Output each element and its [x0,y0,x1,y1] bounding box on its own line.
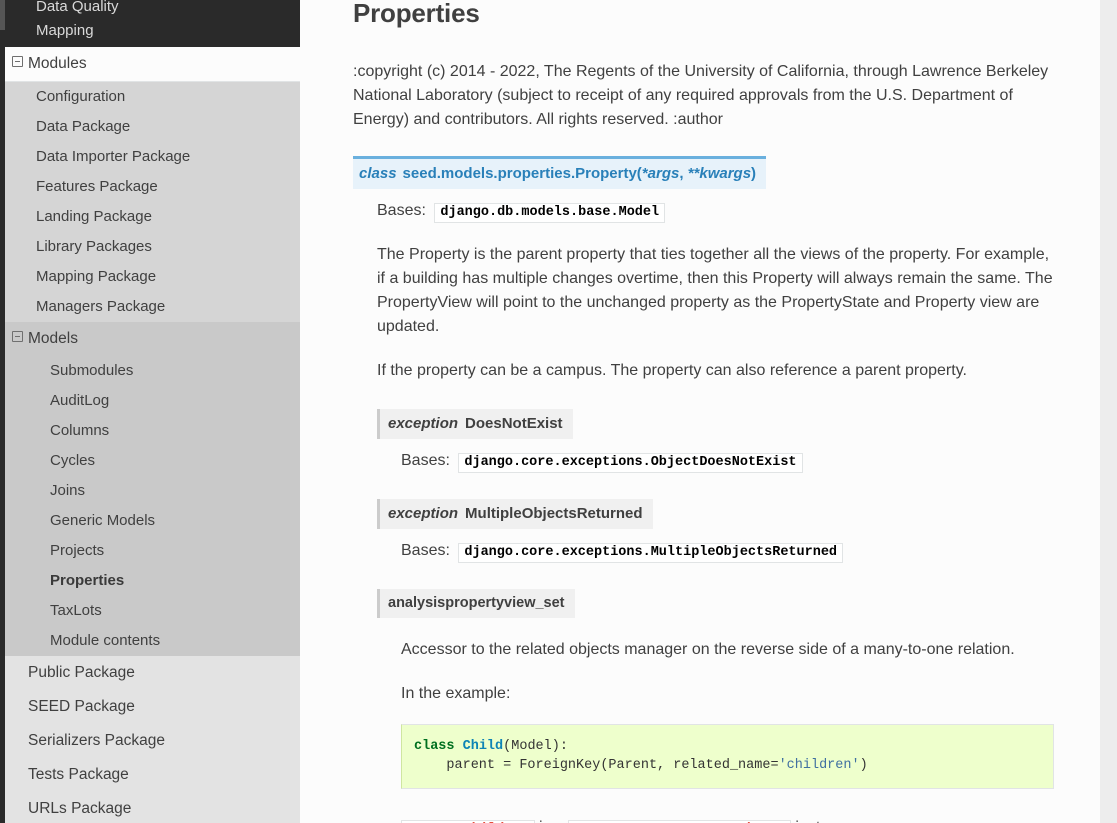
sidebar-item-mapping[interactable]: Mapping [0,15,300,47]
signature-keyword: exception [388,415,458,432]
code-string-children: 'children' [779,758,860,773]
sidebar-item-features-package[interactable]: Features Package [0,172,300,202]
sidebar-item-label: Landing Package [36,208,152,225]
sidebar-item-label: Configuration [36,88,125,105]
sidebar-item-label: URLs Package [28,800,131,817]
descriptor-sentence: Parent.children is a ReverseManyToOneDes… [401,815,1054,823]
code-keyword-class: class [414,739,455,754]
sidebar-item-label: Generic Models [50,512,155,529]
minus-box-icon[interactable] [12,331,23,342]
sidebar-item-auditlog[interactable]: AuditLog [0,386,300,416]
accessor-paragraph: Accessor to the related objects manager … [401,638,1054,662]
attribute-body: Accessor to the related objects manager … [377,638,1054,823]
sidebar-item-configuration[interactable]: Configuration [0,82,300,112]
sidebar-item-label: Data Quality [36,0,119,15]
sidebar-item-seed-package[interactable]: SEED Package [0,690,300,724]
sidebar-item-generic-models[interactable]: Generic Models [0,506,300,536]
copyright-paragraph: :copyright (c) 2014 - 2022, The Regents … [353,60,1054,132]
sidebar-dark-section: Data Quality Mapping [0,0,300,47]
sidebar-item-label: Library Packages [36,238,152,255]
sidebar-group-label: Models [28,330,78,347]
signature-name: MultipleObjectsReturned [465,505,643,522]
description-paragraph-1: The Property is the parent property that… [377,243,1054,339]
sidebar-item-label: Tests Package [28,766,129,783]
code-class-name: Child [463,739,504,754]
sidebar-item-landing-package[interactable]: Landing Package [0,202,300,232]
sidebar-item-label: SEED Package [28,698,135,715]
sidebar-item-label: Mapping Package [36,268,156,285]
descriptor-tail-text: instance. [791,819,859,823]
exception-bases-line: Bases: django.core.exceptions.MultipleOb… [377,541,1054,563]
sidebar-group-modules[interactable]: Modules [0,47,300,82]
exception-bases-line: Bases: django.core.exceptions.ObjectDoes… [377,451,1054,473]
bases-label: Bases: [401,452,450,469]
sidebar-item-label: Cycles [50,452,95,469]
sidebar-group-modules-children: Configuration Data Package Data Importer… [0,82,300,322]
sidebar-item-mapping-package[interactable]: Mapping Package [0,262,300,292]
sidebar-navigation: Data Quality Mapping Modules Configurati… [0,0,300,823]
page-title: Properties [353,0,1054,26]
signature-keyword: exception [388,505,458,522]
exception-signature: exceptionDoesNotExist [377,409,573,439]
sidebar-scrollbar[interactable] [0,0,5,823]
attribute-signature: analysispropertyview_set [377,589,575,618]
bases-value[interactable]: django.core.exceptions.MultipleObjectsRe… [458,543,843,563]
sidebar-item-library-packages[interactable]: Library Packages [0,232,300,262]
minus-box-icon[interactable] [12,56,23,67]
sidebar-item-label: Data Importer Package [36,148,190,165]
sidebar-scrollbar-thumb[interactable] [0,0,5,30]
sidebar-item-taxlots[interactable]: TaxLots [0,596,300,626]
sidebar-item-label: Serializers Package [28,732,165,749]
paren-close: ) [751,165,756,182]
sidebar-lower-section: Public Package SEED Package Serializers … [0,656,300,823]
main-content: Properties :copyright (c) 2014 - 2022, T… [300,0,1100,823]
class-description: The Property is the parent property that… [353,243,1054,383]
sidebar-item-managers-package[interactable]: Managers Package [0,292,300,322]
signature-name: seed.models.properties.Property [403,165,637,182]
signature-name: analysispropertyview_set [388,595,565,611]
sidebar-item-serializers-package[interactable]: Serializers Package [0,724,300,758]
signature-arg-kwargs: **kwargs [688,165,751,182]
description-paragraph-2: If the property can be a campus. The pro… [377,359,1054,383]
example-label: In the example: [401,682,1054,706]
sidebar-item-public-package[interactable]: Public Package [0,656,300,690]
code-line2-pre: parent = ForeignKey(Parent, related_name… [414,758,779,773]
sidebar-item-data-importer-package[interactable]: Data Importer Package [0,142,300,172]
sidebar-item-label: Public Package [28,664,135,681]
sidebar-item-tests-package[interactable]: Tests Package [0,758,300,792]
bases-value[interactable]: django.db.models.base.Model [434,203,665,223]
signature-name: DoesNotExist [465,415,563,432]
signature-comma: , [679,165,687,182]
sidebar-group-label: Modules [28,55,87,72]
bases-value[interactable]: django.core.exceptions.ObjectDoesNotExis… [458,453,802,473]
class-signature: classseed.models.properties.Property(*ar… [353,156,766,189]
sidebar-item-label: Mapping [36,22,94,39]
sidebar-item-module-contents[interactable]: Module contents [0,626,300,656]
sidebar-item-projects[interactable]: Projects [0,536,300,566]
sidebar-item-columns[interactable]: Columns [0,416,300,446]
attribute-analysispropertyview-set-block: analysispropertyview_set Accessor to the… [353,563,1054,823]
signature-arg-args: *args [642,165,680,182]
sidebar-item-cycles[interactable]: Cycles [0,446,300,476]
sidebar-item-label: Properties [50,572,124,589]
sidebar-item-label: Managers Package [36,298,165,315]
exception-signature: exceptionMultipleObjectsReturned [377,499,653,529]
sidebar-item-label: TaxLots [50,602,102,619]
exception-multipleobjectsreturned-block: exceptionMultipleObjectsReturned Bases: … [353,473,1054,563]
documentation-page: Data Quality Mapping Modules Configurati… [0,0,1117,823]
signature-keyword: class [359,165,397,182]
sidebar-item-joins[interactable]: Joins [0,476,300,506]
sidebar-group-models-children: Submodules AuditLog Columns Cycles Joins… [0,356,300,656]
bases-label: Bases: [401,542,450,559]
sidebar-group-models[interactable]: Models [0,322,300,356]
signature-params: (*args, **kwargs) [637,165,756,182]
code-line1-rest: (Model): [503,739,568,754]
code-example-block[interactable]: class Child(Model): parent = ForeignKey(… [401,724,1054,789]
sidebar-item-data-package[interactable]: Data Package [0,112,300,142]
sidebar-item-label: Columns [50,422,109,439]
sidebar-item-label: AuditLog [50,392,109,409]
code-line2-post: ) [860,758,868,773]
class-bases-line: Bases: django.db.models.base.Model [353,201,1054,223]
sidebar-item-submodules[interactable]: Submodules [0,356,300,386]
descriptor-mid-text: is a [535,819,569,823]
sidebar-item-urls-package[interactable]: URLs Package [0,792,300,823]
bases-label: Bases: [377,202,426,219]
sidebar-item-data-quality[interactable]: Data Quality [0,0,300,15]
sidebar-item-label: Data Package [36,118,130,135]
sidebar-item-properties[interactable]: Properties [0,566,300,596]
sidebar-item-label: Projects [50,542,104,559]
sidebar-item-label: Joins [50,482,85,499]
exception-doesnotexist-block: exceptionDoesNotExist Bases: django.core… [353,383,1054,473]
sidebar-item-label: Submodules [50,362,133,379]
sidebar-item-label: Features Package [36,178,158,195]
sidebar-item-label: Module contents [50,632,160,649]
